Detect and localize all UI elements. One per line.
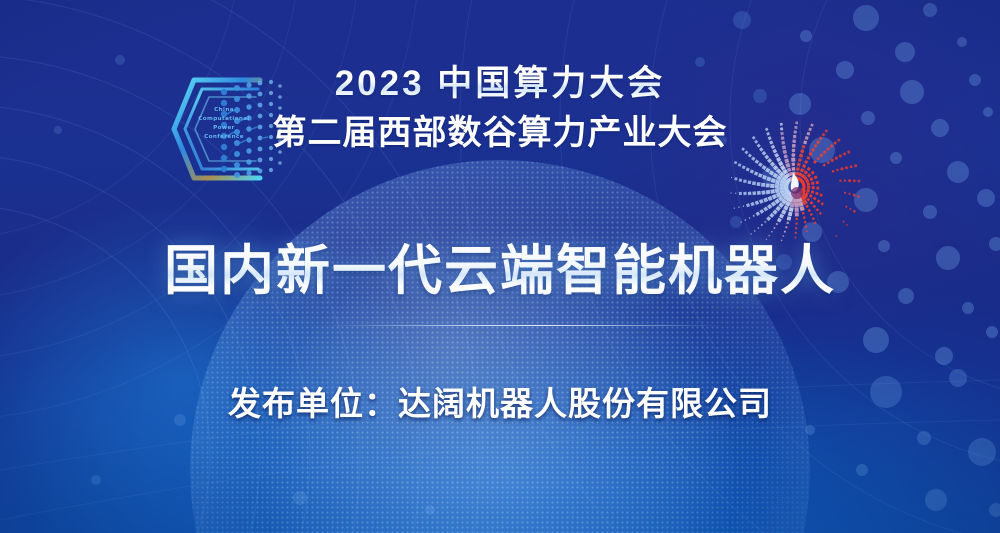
conference-headline: 2023 中国算力大会 第二届西部数谷算力产业大会 <box>270 62 730 154</box>
header-row: China Computational Power Conference 202… <box>0 62 1000 192</box>
logo-line-2: Computational <box>193 115 255 124</box>
main-title: 国内新一代云端智能机器人 <box>0 238 1000 304</box>
conference-poster: China Computational Power Conference 202… <box>0 0 1000 533</box>
publisher-line: 发布单位：达阔机器人股份有限公司 <box>0 383 1000 425</box>
headline-line-1: 2023 中国算力大会 <box>270 62 730 106</box>
logo-line-1: China <box>193 106 255 115</box>
conference-logo-text: China Computational Power Conference <box>193 106 255 142</box>
china-computational-power-conference-logo: China Computational Power Conference <box>166 70 284 188</box>
logo-line-4: Conference <box>193 133 255 142</box>
logo-line-3: Power <box>193 124 255 133</box>
headline-line-2: 第二届西部数谷算力产业大会 <box>270 112 730 154</box>
